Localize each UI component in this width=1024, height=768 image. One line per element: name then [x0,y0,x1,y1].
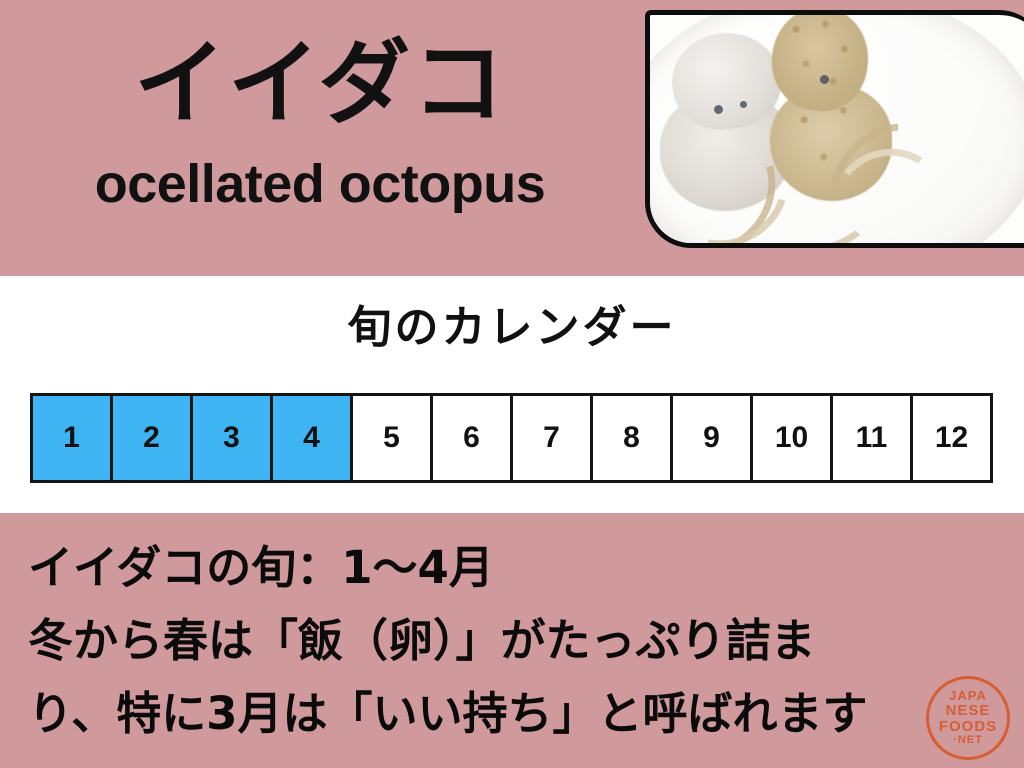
octopus-eye [820,75,829,84]
header-text-block: イイダコ ocellated octopus [0,0,640,276]
calendar-month-cell-8[interactable]: 8 [593,396,673,480]
octopus-eye [740,101,747,108]
calendar-heading: 旬のカレンダー [0,300,1024,356]
season-calendar-section: 旬のカレンダー 123456789101112 [0,276,1024,513]
calendar-month-cell-6[interactable]: 6 [433,396,513,480]
calendar-month-cell-2[interactable]: 2 [113,396,193,480]
calendar-month-cell-3[interactable]: 3 [193,396,273,480]
page-title-japanese: イイダコ [0,34,640,134]
header-band: イイダコ ocellated octopus [0,0,1024,276]
seasonal-info-card: イイダコ ocellated octopus 旬のカレンダー 123456 [0,0,1024,768]
watermark-line-2: NESE [946,703,991,719]
calendar-month-cell-5[interactable]: 5 [353,396,433,480]
watermark-line-1: JAPA [949,689,987,703]
calendar-month-cell-4[interactable]: 4 [273,396,353,480]
calendar-month-cell-7[interactable]: 7 [513,396,593,480]
japanesefoods-watermark-logo: JAPA NESE FOODS ·NET [926,676,1010,760]
calendar-month-cell-1[interactable]: 1 [33,396,113,480]
ocellated-octopus-photo [645,10,1024,248]
description-text: イイダコの旬：1〜4月冬から春は「飯（卵）」がたっぷり詰まり、特に3月は「いい持… [28,531,1018,750]
plate-shape [645,10,1024,248]
description-line: 冬から春は「飯（卵）」がたっぷり詰ま [28,604,1018,677]
calendar-month-cell-9[interactable]: 9 [673,396,753,480]
calendar-month-cell-10[interactable]: 10 [753,396,833,480]
octopus-eye [714,105,723,114]
calendar-month-cell-12[interactable]: 12 [913,396,990,480]
calendar-month-cell-11[interactable]: 11 [833,396,913,480]
description-line: り、特に3月は「いい持ち」と呼ばれます [28,677,1018,750]
watermark-line-3: FOODS [939,719,997,735]
month-calendar: 123456789101112 [30,393,993,483]
description-band: イイダコの旬：1〜4月冬から春は「飯（卵）」がたっぷり詰まり、特に3月は「いい持… [0,513,1024,768]
page-title-english: ocellated octopus [0,152,640,216]
watermark-line-4: ·NET [953,735,983,747]
description-line: イイダコの旬：1〜4月 [28,531,1018,604]
